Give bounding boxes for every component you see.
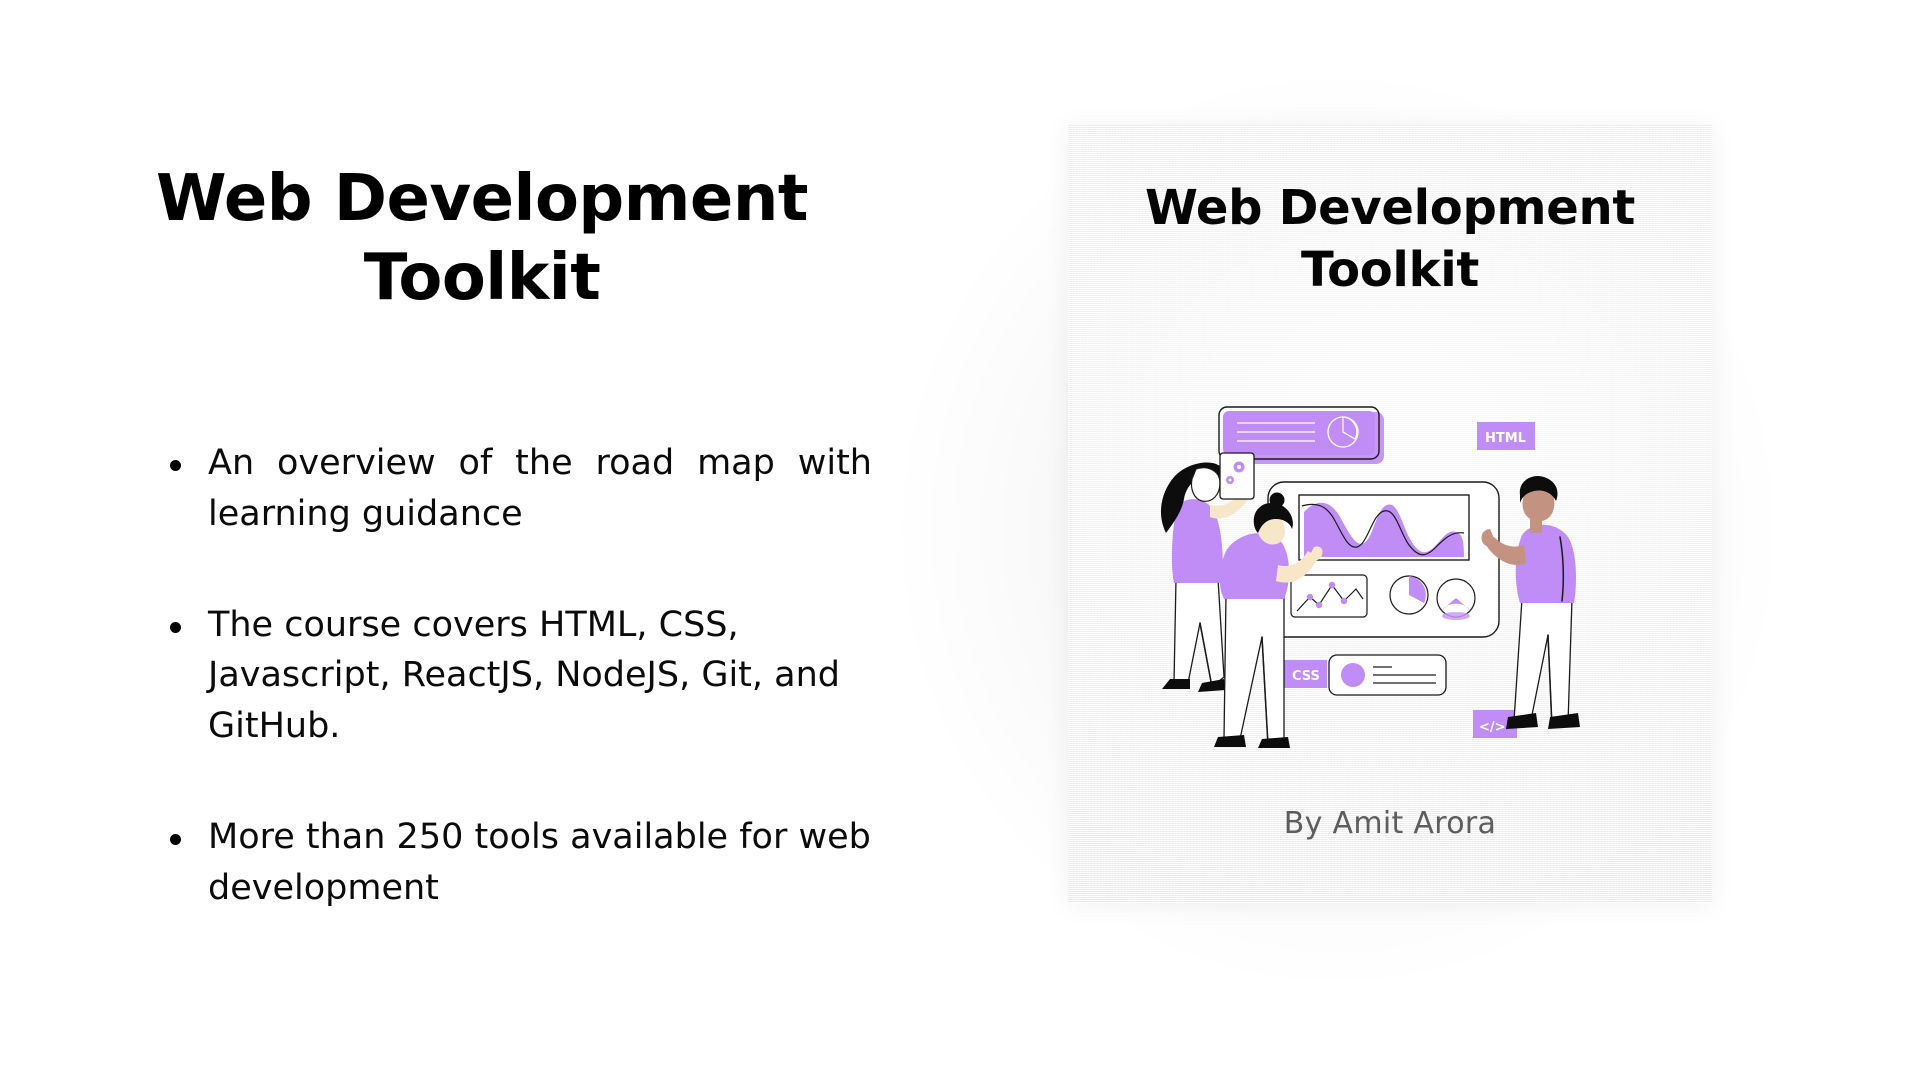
book-cover-inner: Web Development Toolkit .pf { fill: #c08… [1068,125,1712,903]
list-item-label: More than 250 tools available for web de… [208,817,871,908]
left-content-column: Web Development Toolkit An overview of t… [0,0,880,1080]
cover-byline: By Amit Arora [1068,806,1712,841]
bullet-list: An overview of the road map with learnin… [160,438,872,913]
svg-text:HTML: HTML [1485,431,1526,446]
dashboard-panel-area-chart [1299,495,1469,560]
svg-text:</>: </> [1479,720,1506,735]
bullet-dot-icon [170,834,181,845]
list-item-label: An overview of the road map with learnin… [208,438,872,540]
bullet-dot-icon [170,460,181,471]
list-item-label: The course covers HTML, CSS, Javascript,… [208,605,840,747]
list-item: The course covers HTML, CSS, Javascript,… [160,600,872,752]
list-item: An overview of the road map with learnin… [160,438,872,540]
dashboard-panel-line-chart [1291,575,1367,617]
slide-root: Web Development Toolkit An overview of t… [0,0,1920,1080]
profile-card-widget [1329,655,1446,695]
cover-title: Web Development Toolkit [1112,177,1668,302]
cover-illustration: .pf { fill: #c08cf5; } .pfl { fill: #ca9… [1144,387,1636,779]
svg-text:CSS: CSS [1292,669,1320,684]
page-title: Web Development Toolkit [132,160,832,319]
book-cover-card: Web Development Toolkit .pf { fill: #c08… [1068,125,1712,903]
bullet-dot-icon [170,622,181,633]
list-item: More than 250 tools available for web de… [160,812,872,914]
css-tag-badge: CSS [1283,660,1327,688]
html-tag-badge: HTML [1477,422,1535,450]
